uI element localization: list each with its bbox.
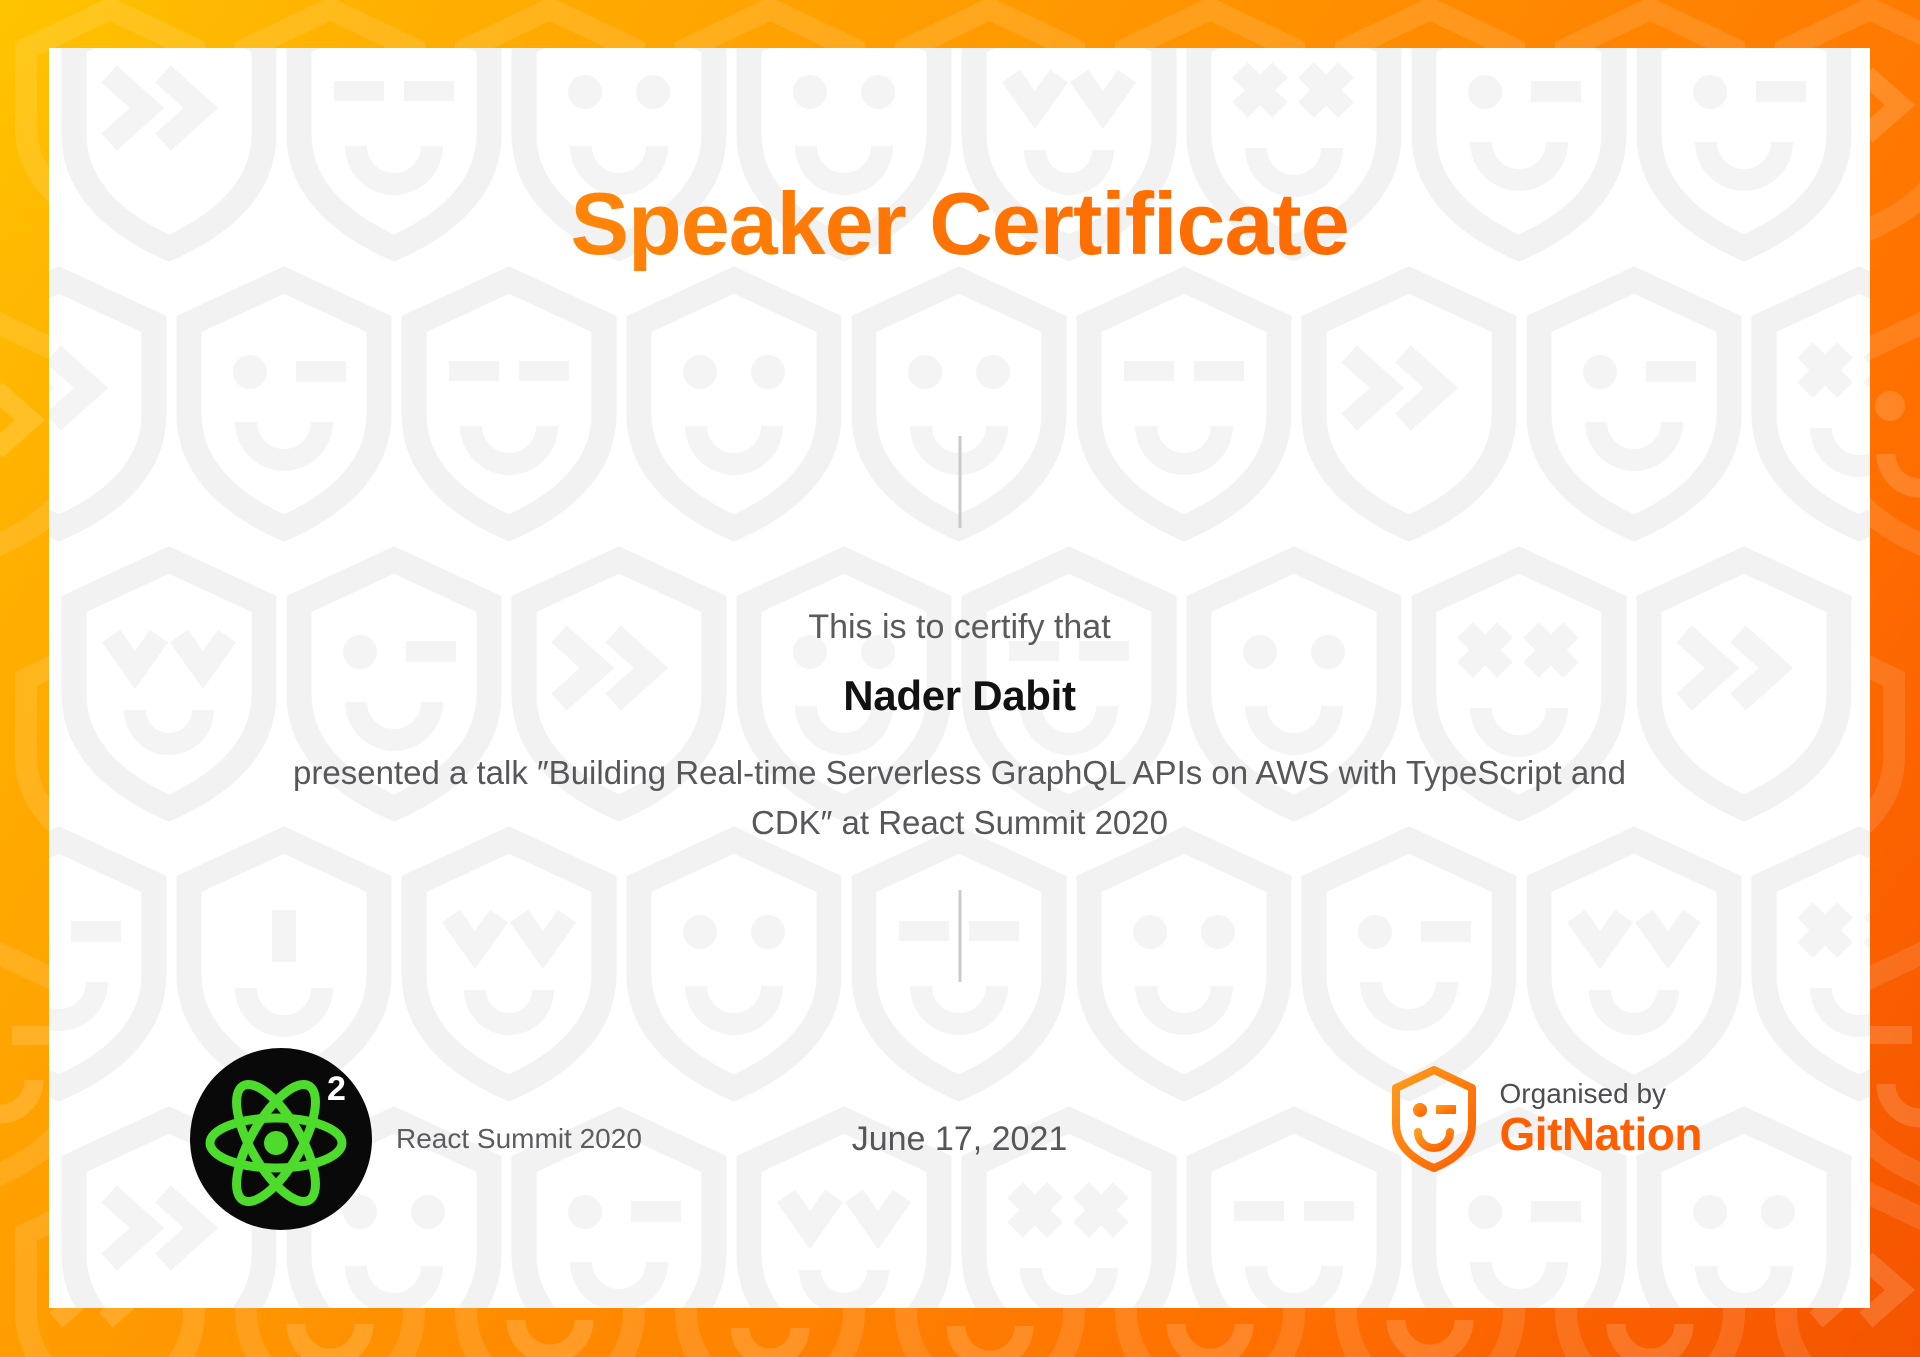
organiser-text: Organised by GitNation <box>1500 1078 1702 1161</box>
page-title: Speaker Certificate <box>49 176 1870 271</box>
certificate-card: Speaker Certificate This is to certify t… <box>49 48 1870 1308</box>
organiser-block: Organised by GitNation <box>1390 1066 1702 1172</box>
recipient-name: Nader Dabit <box>49 672 1870 720</box>
organised-by-label: Organised by <box>1500 1078 1702 1109</box>
divider-bottom <box>958 890 961 982</box>
organiser-name: GitNation <box>1500 1109 1702 1161</box>
divider-top <box>958 436 961 528</box>
certify-line: This is to certify that <box>49 608 1870 647</box>
certificate-footer: 2 React Summit 2020 June 17, 2021 <box>49 1048 1870 1228</box>
talk-description: presented a talk ″Building Real-time Ser… <box>250 748 1670 848</box>
gitnation-shield-smiley-icon <box>1390 1066 1478 1172</box>
certificate-frame: Speaker Certificate This is to certify t… <box>0 0 1920 1357</box>
badge-superscript: 2 <box>327 1070 346 1108</box>
